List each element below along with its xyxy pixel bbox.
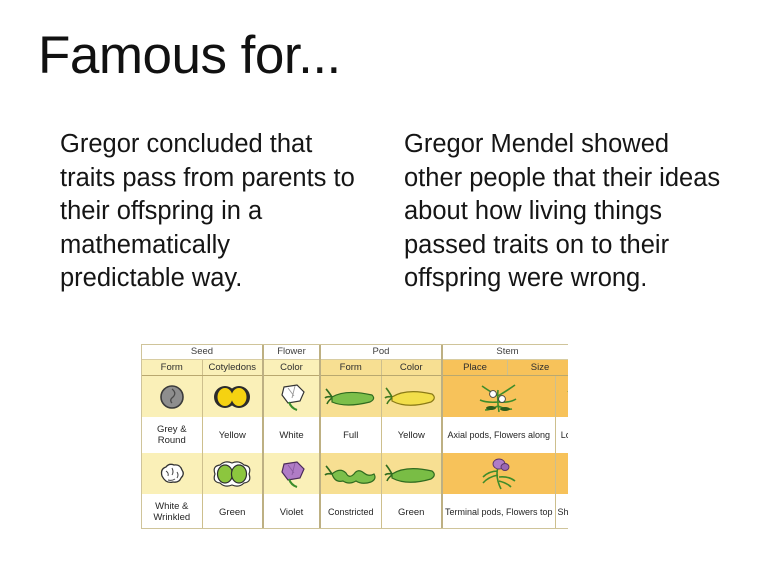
subhead-row-pod: Form Color xyxy=(321,360,441,376)
table-group-flower: Flower Color White xyxy=(264,345,321,528)
full-pod-icon xyxy=(321,376,381,417)
green-pod-icon xyxy=(382,453,442,494)
cell-label-stem-size-1: Long (6-7f xyxy=(556,417,568,453)
yellow-cotyledons-icon xyxy=(203,376,263,417)
group-title-flower: Flower xyxy=(264,345,319,360)
cell-label-pod-color-2: Green xyxy=(382,494,442,529)
table-column-stem-place: Axial pods, Flowers along Terminal pods,… xyxy=(443,376,556,529)
subhead-pod-form: Form xyxy=(321,360,382,375)
cell-label-stem-place-2: Terminal pods, Flowers top xyxy=(443,494,555,529)
cell-label-pod-color-1: Yellow xyxy=(382,417,442,453)
short-stem-icon xyxy=(556,453,568,494)
axial-pods-plant-icon xyxy=(443,376,555,417)
white-flower-icon xyxy=(264,376,319,417)
cell-label-seed-form-1: Grey & Round xyxy=(142,417,202,453)
cell-label-pod-form-2: Constricted xyxy=(321,494,381,529)
cell-label-seed-cotyledons-2: Green xyxy=(203,494,263,529)
subhead-row-seed: Form Cotyledons xyxy=(142,360,262,376)
cell-label-seed-form-2: White & Wrinkled xyxy=(142,494,202,529)
yellow-pod-icon xyxy=(382,376,442,417)
terminal-pods-plant-icon xyxy=(443,453,555,494)
subhead-stem-size: Size xyxy=(508,360,568,375)
green-cotyledons-icon xyxy=(203,453,263,494)
table-group-pod: Pod Form Color Full xyxy=(321,345,443,528)
group-title-stem: Stem xyxy=(443,345,568,360)
table-column-stem-size: Long (6-7f Short (¾ -1f 7 xyxy=(556,376,568,529)
table-column-pod-form: Full Constricted 4 xyxy=(321,376,382,529)
table-column-seed-form: Grey & Round White & Wrinkled 1 xyxy=(142,376,203,529)
cell-label-seed-cotyledons-1: Yellow xyxy=(203,417,263,453)
table-column-seed-cotyledons: Yellow Green 2 xyxy=(203,376,263,529)
subhead-seed-cotyledons: Cotyledons xyxy=(203,360,263,375)
cell-label-stem-size-2: Short (¾ -1f xyxy=(556,494,568,529)
subhead-seed-form: Form xyxy=(142,360,203,375)
table-group-seed: Seed Form Cotyledons Grey & Round xyxy=(142,345,264,528)
subhead-stem-place: Place xyxy=(443,360,508,375)
body-text-left: Gregor concluded that traits pass from p… xyxy=(60,128,360,296)
cell-label-pod-form-1: Full xyxy=(321,417,381,453)
subhead-row-flower: Color xyxy=(264,360,319,376)
body-text-right: Gregor Mendel showed other people that t… xyxy=(404,128,729,296)
mendel-traits-table: Seed Form Cotyledons Grey & Round xyxy=(141,344,568,529)
constricted-pod-icon xyxy=(321,453,381,494)
cell-label-flower-color-1: White xyxy=(264,417,319,453)
violet-flower-icon xyxy=(264,453,319,494)
white-wrinkled-seed-icon xyxy=(142,453,202,494)
subhead-pod-color: Color xyxy=(382,360,442,375)
group-title-pod: Pod xyxy=(321,345,441,360)
table-column-pod-color: Yellow Green 5 xyxy=(382,376,442,529)
long-stem-icon xyxy=(556,376,568,417)
page-title: Famous for... xyxy=(38,28,341,84)
table-column-flower-color: White Violet 3 xyxy=(264,376,319,529)
subhead-row-stem: Place Size xyxy=(443,360,568,376)
table-group-stem: Stem Place Size xyxy=(443,345,568,528)
subhead-flower-color: Color xyxy=(264,360,319,375)
group-title-seed: Seed xyxy=(142,345,262,360)
cell-label-flower-color-2: Violet xyxy=(264,494,319,529)
cell-label-stem-place-1: Axial pods, Flowers along xyxy=(443,417,555,453)
grey-round-seed-icon xyxy=(142,376,202,417)
